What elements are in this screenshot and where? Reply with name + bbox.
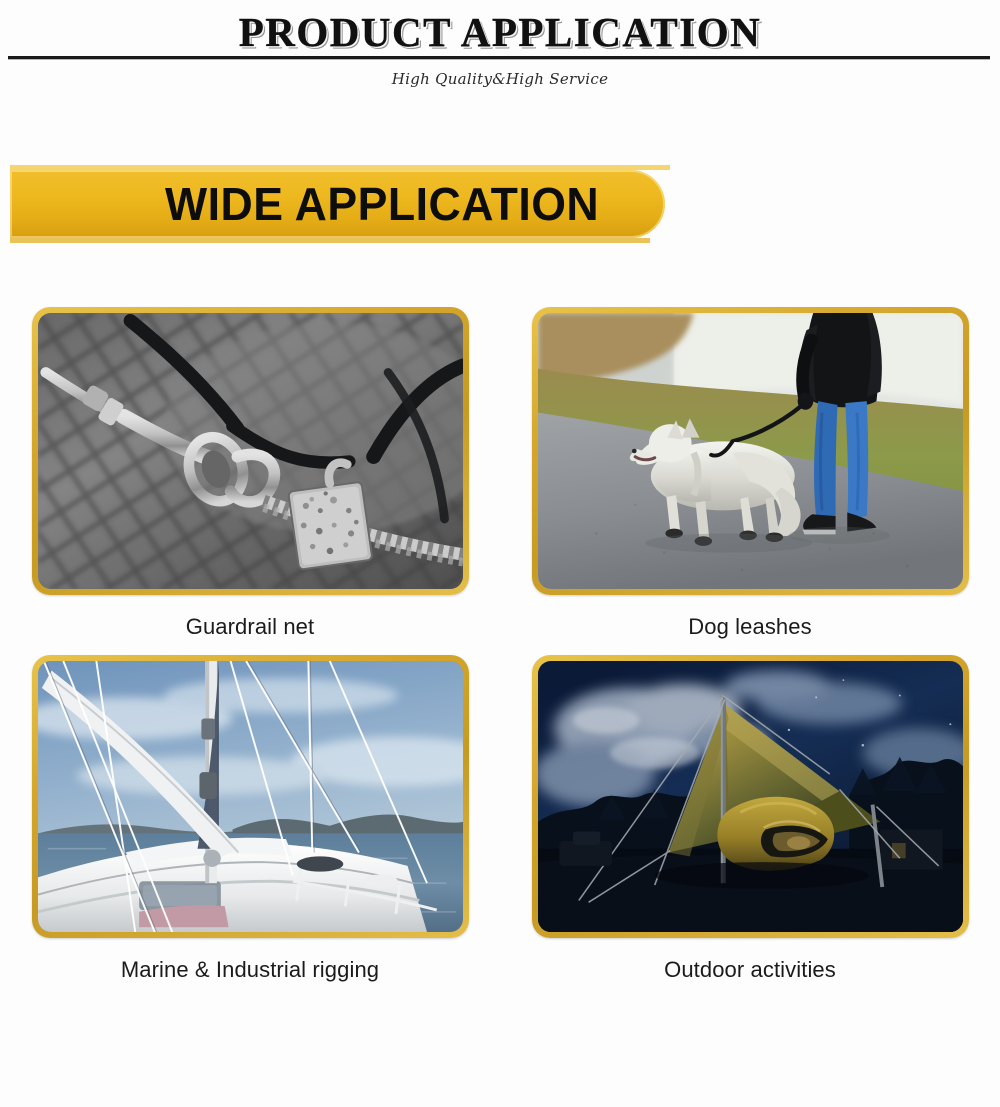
card-image-dog-leashes — [538, 313, 963, 589]
image-card-guardrail-net[interactable] — [32, 307, 469, 595]
page-subtitle: High Quality&High Service — [0, 70, 1000, 88]
image-card-outdoor-activities[interactable] — [532, 655, 969, 938]
card-image-outdoor-activities — [538, 661, 963, 932]
application-cell-outdoor-activities: Outdoor activities — [500, 648, 1000, 983]
page-header: PRODUCT APPLICATION High Quality&High Se… — [0, 0, 1000, 110]
application-grid: Guardrail net — [0, 300, 1000, 983]
card-caption-dog-leashes: Dog leashes — [500, 614, 1000, 640]
card-image-marine-industrial-rigging — [38, 661, 463, 932]
card-image-guardrail-net — [38, 313, 463, 589]
image-card-marine-industrial-rigging[interactable] — [32, 655, 469, 938]
page-title: PRODUCT APPLICATION — [0, 8, 1000, 56]
header-divider — [8, 56, 990, 59]
card-caption-marine-industrial-rigging: Marine & Industrial rigging — [0, 957, 500, 983]
wide-application-banner: WIDE APPLICATION — [10, 170, 665, 238]
card-caption-guardrail-net: Guardrail net — [0, 614, 500, 640]
application-cell-marine-industrial-rigging: Marine & Industrial rigging — [0, 648, 500, 983]
image-card-dog-leashes[interactable] — [532, 307, 969, 595]
card-caption-outdoor-activities: Outdoor activities — [500, 957, 1000, 983]
application-cell-dog-leashes: Dog leashes — [500, 300, 1000, 640]
grid-row-2: Marine & Industrial rigging — [0, 648, 1000, 983]
banner-label: WIDE APPLICATION — [165, 177, 599, 231]
application-cell-guardrail-net: Guardrail net — [0, 300, 500, 640]
grid-row-1: Guardrail net — [0, 300, 1000, 640]
